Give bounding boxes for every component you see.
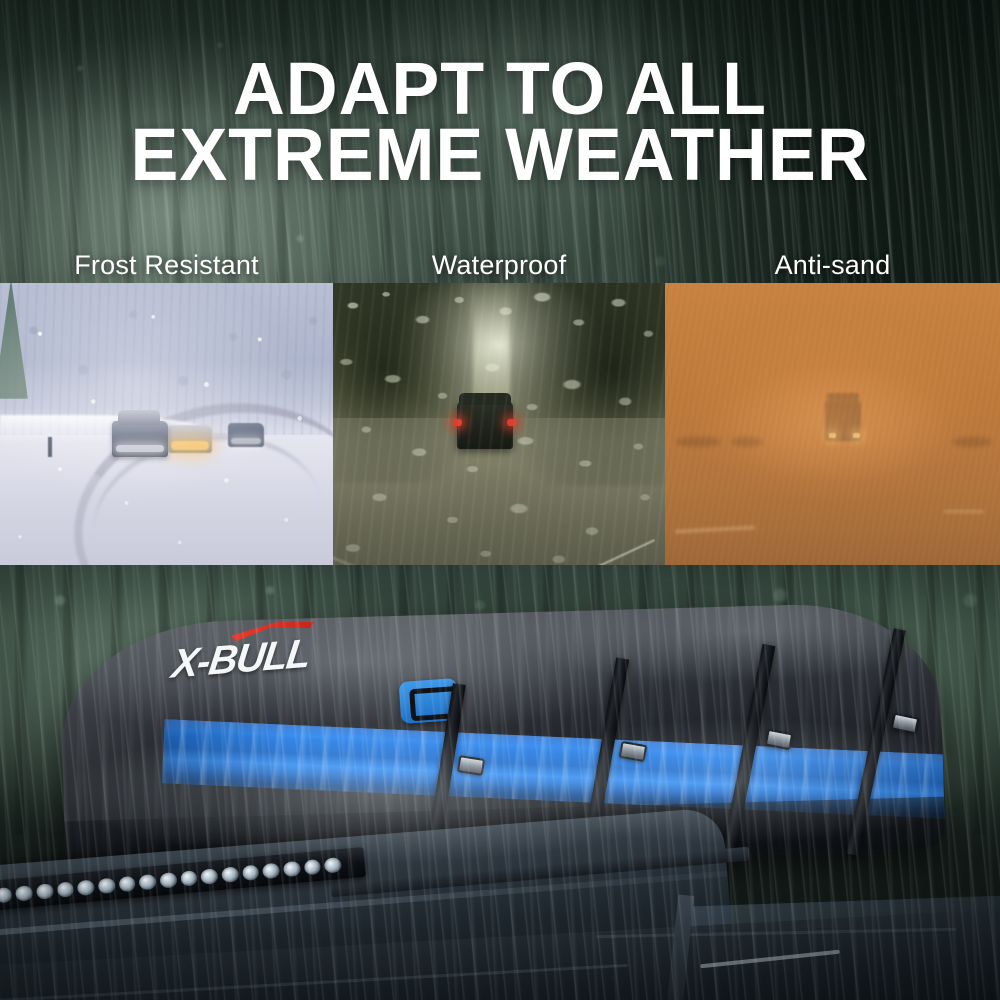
feature-label-row: Frost Resistant Waterproof Anti-sand: [0, 243, 1000, 287]
led-lamp: [159, 872, 177, 888]
led-lamp: [201, 868, 219, 884]
feature-label-frost-resistant: Frost Resistant: [0, 243, 333, 287]
sand-grain-texture: [665, 283, 1000, 565]
hood-panel-line: [0, 964, 628, 1000]
led-lamp: [221, 866, 239, 882]
led-lamp: [262, 862, 280, 878]
led-lamp: [36, 883, 54, 899]
hood-panel-line-2: [596, 928, 956, 939]
led-lamp: [180, 870, 198, 886]
led-lamp: [139, 873, 157, 889]
hero-product-photo: X-BULL: [0, 565, 1000, 1000]
led-lamp: [77, 879, 95, 895]
page-title: ADAPT TO ALL EXTREME WEATHER: [0, 56, 1000, 188]
led-lamp: [56, 881, 74, 897]
led-lamp: [15, 885, 33, 901]
headline-line-2: EXTREME WEATHER: [15, 122, 985, 188]
feature-image-row: [0, 283, 1000, 565]
feature-image-anti-sand: [665, 283, 1000, 565]
feature-label-waterproof: Waterproof: [333, 243, 665, 287]
falling-snow: [0, 283, 333, 565]
weather-feature-poster: ADAPT TO ALL EXTREME WEATHER Frost Resis…: [0, 0, 1000, 1000]
led-lamp: [118, 875, 136, 891]
led-lamp: [303, 858, 321, 874]
windshield-raindrops: [333, 283, 665, 565]
led-lamp: [98, 877, 116, 893]
feature-image-frost-resistant: [0, 283, 333, 565]
led-lamp: [0, 887, 13, 903]
led-lamp: [283, 860, 301, 876]
led-lamp: [242, 864, 260, 880]
feature-image-waterproof: [333, 283, 665, 565]
led-lamp: [324, 857, 342, 873]
feature-label-anti-sand: Anti-sand: [665, 243, 1000, 287]
